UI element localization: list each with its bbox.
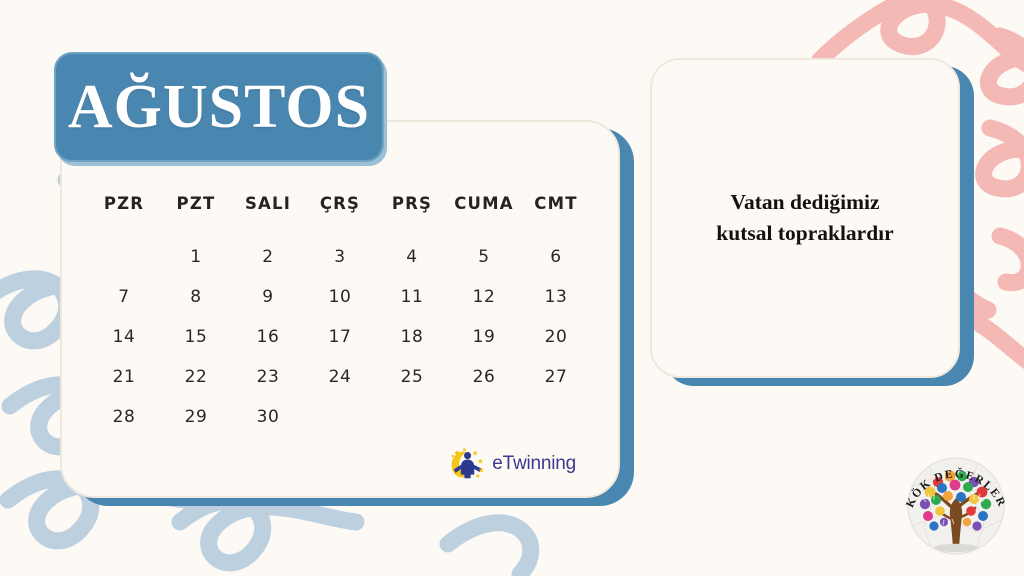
- calendar-card: PZR PZT SALI ÇRŞ PRŞ CUMA CMT 1 2 3 4 5 …: [60, 120, 620, 498]
- calendar-day[interactable]: 29: [160, 407, 232, 429]
- calendar-grid: PZR PZT SALI ÇRŞ PRŞ CUMA CMT 1 2 3 4 5 …: [88, 194, 592, 429]
- page-title: AĞUSTOS: [68, 76, 370, 138]
- month-title-badge: AĞUSTOS: [54, 52, 384, 162]
- calendar-day[interactable]: 30: [232, 407, 304, 429]
- calendar-day[interactable]: 21: [88, 367, 160, 389]
- day-header-prs: PRŞ: [376, 194, 448, 229]
- calendar-day[interactable]: 6: [520, 247, 592, 269]
- calendar-day[interactable]: 23: [232, 367, 304, 389]
- calendar-day[interactable]: 20: [520, 327, 592, 349]
- calendar-day: [376, 407, 448, 429]
- calendar-day: [88, 247, 160, 269]
- calendar-day[interactable]: 15: [160, 327, 232, 349]
- quote-card: Vatan dediğimiz kutsal topraklardır: [650, 58, 960, 378]
- calendar-day[interactable]: 7: [88, 287, 160, 309]
- quote-line-2: kutsal topraklardır: [716, 221, 893, 245]
- calendar-day[interactable]: 14: [88, 327, 160, 349]
- etwinning-logo-icon: [448, 448, 488, 480]
- calendar-day[interactable]: 8: [160, 287, 232, 309]
- day-header-sali: SALI: [232, 194, 304, 229]
- calendar-day[interactable]: 16: [232, 327, 304, 349]
- calendar-day[interactable]: 25: [376, 367, 448, 389]
- day-header-pzt: PZT: [160, 194, 232, 229]
- calendar-day[interactable]: 2: [232, 247, 304, 269]
- calendar-day[interactable]: 3: [304, 247, 376, 269]
- calendar-day[interactable]: 4: [376, 247, 448, 269]
- calendar-day[interactable]: 1: [160, 247, 232, 269]
- calendar-day[interactable]: 9: [232, 287, 304, 309]
- etwinning-logo: eTwinning: [448, 448, 576, 480]
- calendar-day[interactable]: 26: [448, 367, 520, 389]
- calendar-day: [448, 407, 520, 429]
- calendar-day: [304, 407, 376, 429]
- calendar-day[interactable]: 17: [304, 327, 376, 349]
- calendar-day[interactable]: 13: [520, 287, 592, 309]
- calendar-day[interactable]: 12: [448, 287, 520, 309]
- calendar-day[interactable]: 18: [376, 327, 448, 349]
- quote-text: Vatan dediğimiz kutsal topraklardır: [716, 187, 893, 248]
- calendar-day[interactable]: 28: [88, 407, 160, 429]
- calendar-day: [520, 407, 592, 429]
- etwinning-label: eTwinning: [492, 453, 576, 475]
- calendar-day[interactable]: 19: [448, 327, 520, 349]
- kok-degerler-logo: KÖK DEĞERLER: [898, 448, 1014, 564]
- quote-line-1: Vatan dediğimiz: [730, 190, 879, 214]
- calendar-day[interactable]: 24: [304, 367, 376, 389]
- calendar-day[interactable]: 11: [376, 287, 448, 309]
- handprint-tree-icon: KÖK DEĞERLER: [898, 448, 1014, 564]
- day-header-cmt: CMT: [520, 194, 592, 229]
- calendar-day[interactable]: 5: [448, 247, 520, 269]
- calendar-day[interactable]: 10: [304, 287, 376, 309]
- day-header-cuma: CUMA: [448, 194, 520, 229]
- day-header-crs: ÇRŞ: [304, 194, 376, 229]
- day-header-pzr: PZR: [88, 194, 160, 229]
- calendar-day[interactable]: 22: [160, 367, 232, 389]
- calendar-day[interactable]: 27: [520, 367, 592, 389]
- calendar-body: PZR PZT SALI ÇRŞ PRŞ CUMA CMT 1 2 3 4 5 …: [62, 122, 618, 496]
